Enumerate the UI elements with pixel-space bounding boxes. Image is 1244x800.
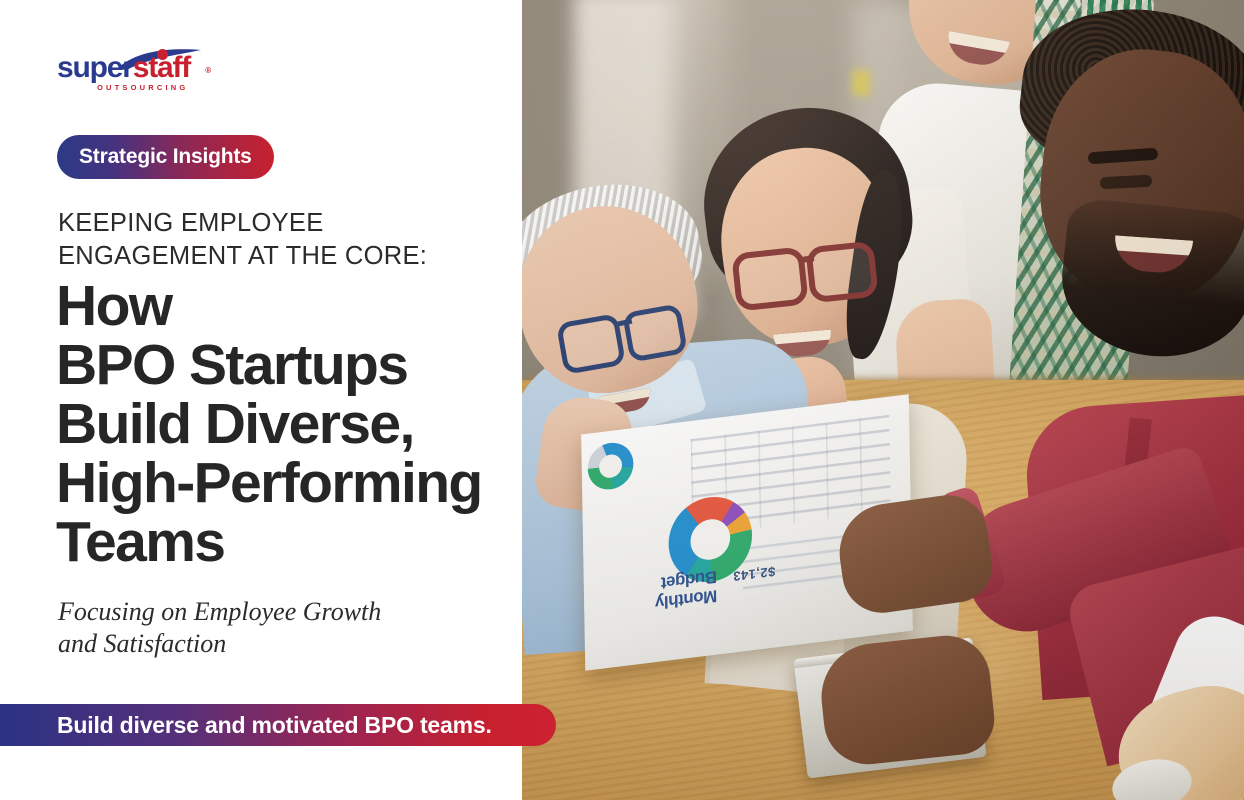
document-donut-chart-small [587,440,633,492]
cta-banner[interactable]: Build diverse and motivated BPO teams. [0,704,556,746]
red-eyeglasses-left-lens [731,246,809,311]
subtitle-text: Focusing on Employee Growth and Satisfac… [58,596,488,660]
logo-staff-text: staff [133,51,190,84]
left-content-column: superstaff® OUTSOURCING Strategic Insigh… [0,0,522,800]
headline-line-3: Build Diverse, [56,395,526,454]
logo-registered-mark: ® [205,57,210,85]
eyebrow-line-2: ENGAGEMENT AT THE CORE: [58,242,427,270]
page-title: How BPO Startups Build Diverse, High-Per… [56,277,526,572]
poster-canvas: superstaff® OUTSOURCING Strategic Insigh… [0,0,1244,800]
eyebrow-line-1: KEEPING EMPLOYEE [58,209,324,237]
subtitle-line-1: Focusing on Employee Growth [58,596,488,628]
cta-label: Build diverse and motivated BPO teams. [57,712,492,739]
hero-photo: Monthly Budget $2,143 [522,0,1244,800]
navy-eyeglasses-right-lens [622,303,688,362]
donut-chart-small-hole [599,453,622,479]
headline-line-2: BPO Startups [56,336,526,395]
logo-super-text: super [57,51,133,84]
badge-label: Strategic Insights [79,145,252,169]
red-eyeglasses-right-lens [805,241,878,304]
headline-line-4: High-Performing [56,454,526,513]
superstaff-logo[interactable]: superstaff® OUTSOURCING [57,49,205,95]
headline-line-1: How [56,277,526,336]
background-sticky-note [852,70,870,96]
subtitle-line-2: and Satisfaction [58,628,488,660]
document-title: Monthly Budget [608,567,718,619]
logo-tagline: OUTSOURCING [97,83,188,92]
headline-line-5: Teams [56,513,526,572]
logo-wordmark: superstaff® [57,54,205,82]
strategic-insights-badge[interactable]: Strategic Insights [57,135,274,179]
eyebrow-text: KEEPING EMPLOYEE ENGAGEMENT AT THE CORE: [58,207,498,273]
navy-eyeglasses-left-lens [556,313,626,375]
donut-chart-large-hole [690,517,730,562]
